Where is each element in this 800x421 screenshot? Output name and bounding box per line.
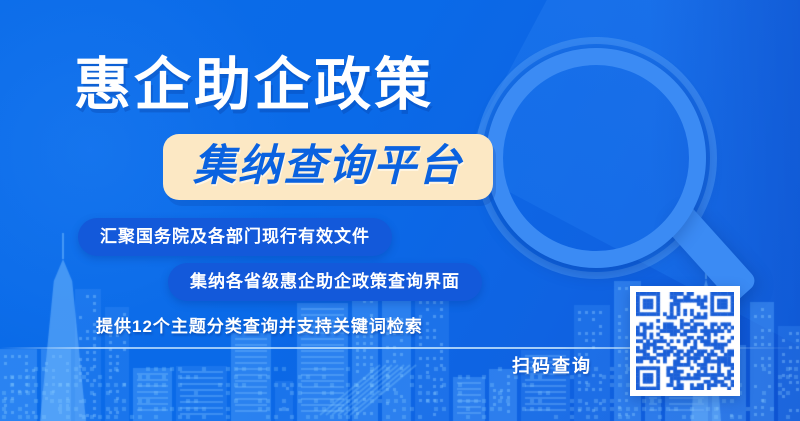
list-item: 汇聚国务院及各部门现行有效文件 xyxy=(78,218,392,256)
feature-row: 汇聚国务院及各部门现行有效文件 xyxy=(0,218,520,263)
policy-query-platform-banner: 惠企助企政策 集纳查询平台 汇聚国务院及各部门现行有效文件 集纳各省级惠企助企政… xyxy=(0,0,800,421)
subtitle-pill: 集纳查询平台 xyxy=(163,134,493,200)
feature-row: 集纳各省级惠企助企政策查询界面 xyxy=(0,263,520,308)
qr-code-icon[interactable] xyxy=(630,286,740,396)
qr-code-canvas xyxy=(636,292,734,390)
list-item: 提供12个主题分类查询并支持关键词检索 xyxy=(74,308,445,346)
subtitle-text: 集纳查询平台 xyxy=(193,141,463,191)
feature-row: 提供12个主题分类查询并支持关键词检索 xyxy=(0,308,520,353)
feature-list: 汇聚国务院及各部门现行有效文件 集纳各省级惠企助企政策查询界面 提供12个主题分… xyxy=(0,218,520,353)
page-title: 惠企助企政策 xyxy=(74,50,434,120)
scan-label: 扫码查询 xyxy=(512,352,592,378)
list-item: 集纳各省级惠企助企政策查询界面 xyxy=(168,263,482,301)
